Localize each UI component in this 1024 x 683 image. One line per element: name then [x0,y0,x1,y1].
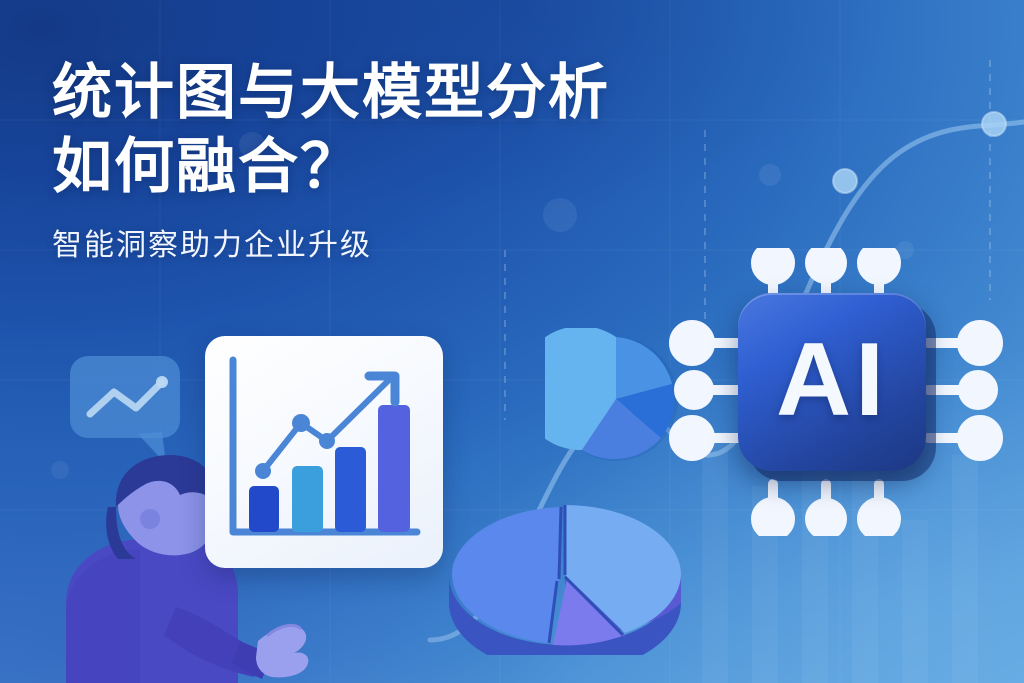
bar-1 [249,486,279,532]
bubble-sparkline-endpoint [156,376,168,388]
trend-line [263,378,391,471]
lower-pie-chart-3d [443,485,688,655]
poster-canvas: 统计图与大模型分析 如何融合？ 智能洞察助力企业升级 [0,0,1024,683]
headline-block: 统计图与大模型分析 如何融合？ 智能洞察助力企业升级 [52,56,772,265]
bar-2 [292,466,323,532]
bar-4 [378,405,410,532]
page-title-line-1: 统计图与大模型分析 [52,56,772,130]
bar-3 [335,447,366,532]
bar-chart-graphic [205,336,443,568]
page-title-line-2: 如何融合？ [52,130,772,204]
ai-chip: AI [738,293,926,471]
insight-bubble [66,352,186,464]
ai-chip-label: AI [776,328,888,432]
